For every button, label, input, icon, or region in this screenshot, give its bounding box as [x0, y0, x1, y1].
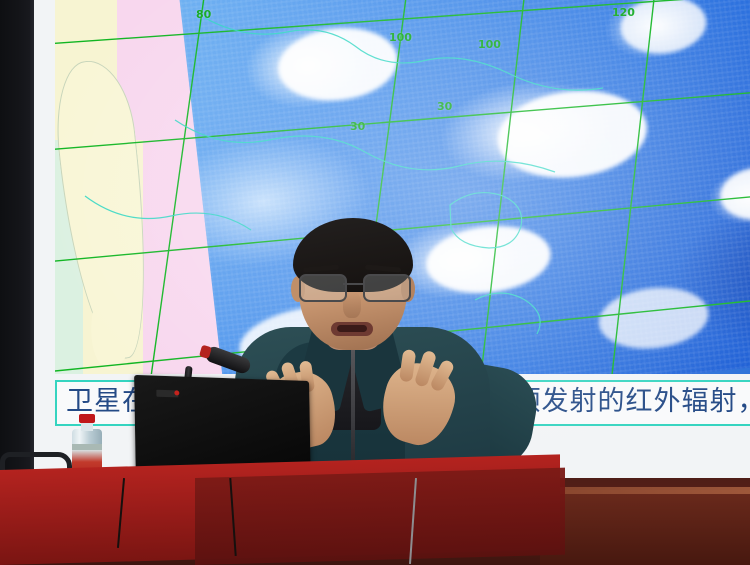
speaker-nose — [343, 292, 361, 318]
graticule-label: 30 — [437, 100, 452, 113]
laptop-logo-dot-icon — [174, 390, 179, 395]
bottle-cap — [79, 414, 95, 423]
lecture-photo-scene: 80 100 100 120 30 30 卫星在10-13微米波段接收地表和云顶… — [0, 0, 750, 565]
glasses-lens-right — [363, 274, 411, 302]
graticule-label: 120 — [612, 6, 635, 19]
glasses-lens-left — [299, 274, 347, 302]
podium-wood-trim — [540, 487, 750, 494]
room-wall-left — [0, 0, 34, 480]
podium-wood-panel — [540, 490, 750, 565]
jacket-zipper — [351, 337, 355, 467]
graticule-label: 80 — [196, 8, 211, 21]
glasses-bridge — [343, 283, 365, 285]
podium-red-cloth-shadow — [195, 468, 565, 565]
microphone-ring — [199, 345, 212, 359]
bottle-neck — [81, 422, 93, 431]
speaker-mouth-inner — [337, 325, 367, 332]
graticule-label: 30 — [350, 120, 365, 133]
graticule-label: 100 — [389, 31, 412, 44]
graticule-label: 100 — [478, 38, 501, 51]
